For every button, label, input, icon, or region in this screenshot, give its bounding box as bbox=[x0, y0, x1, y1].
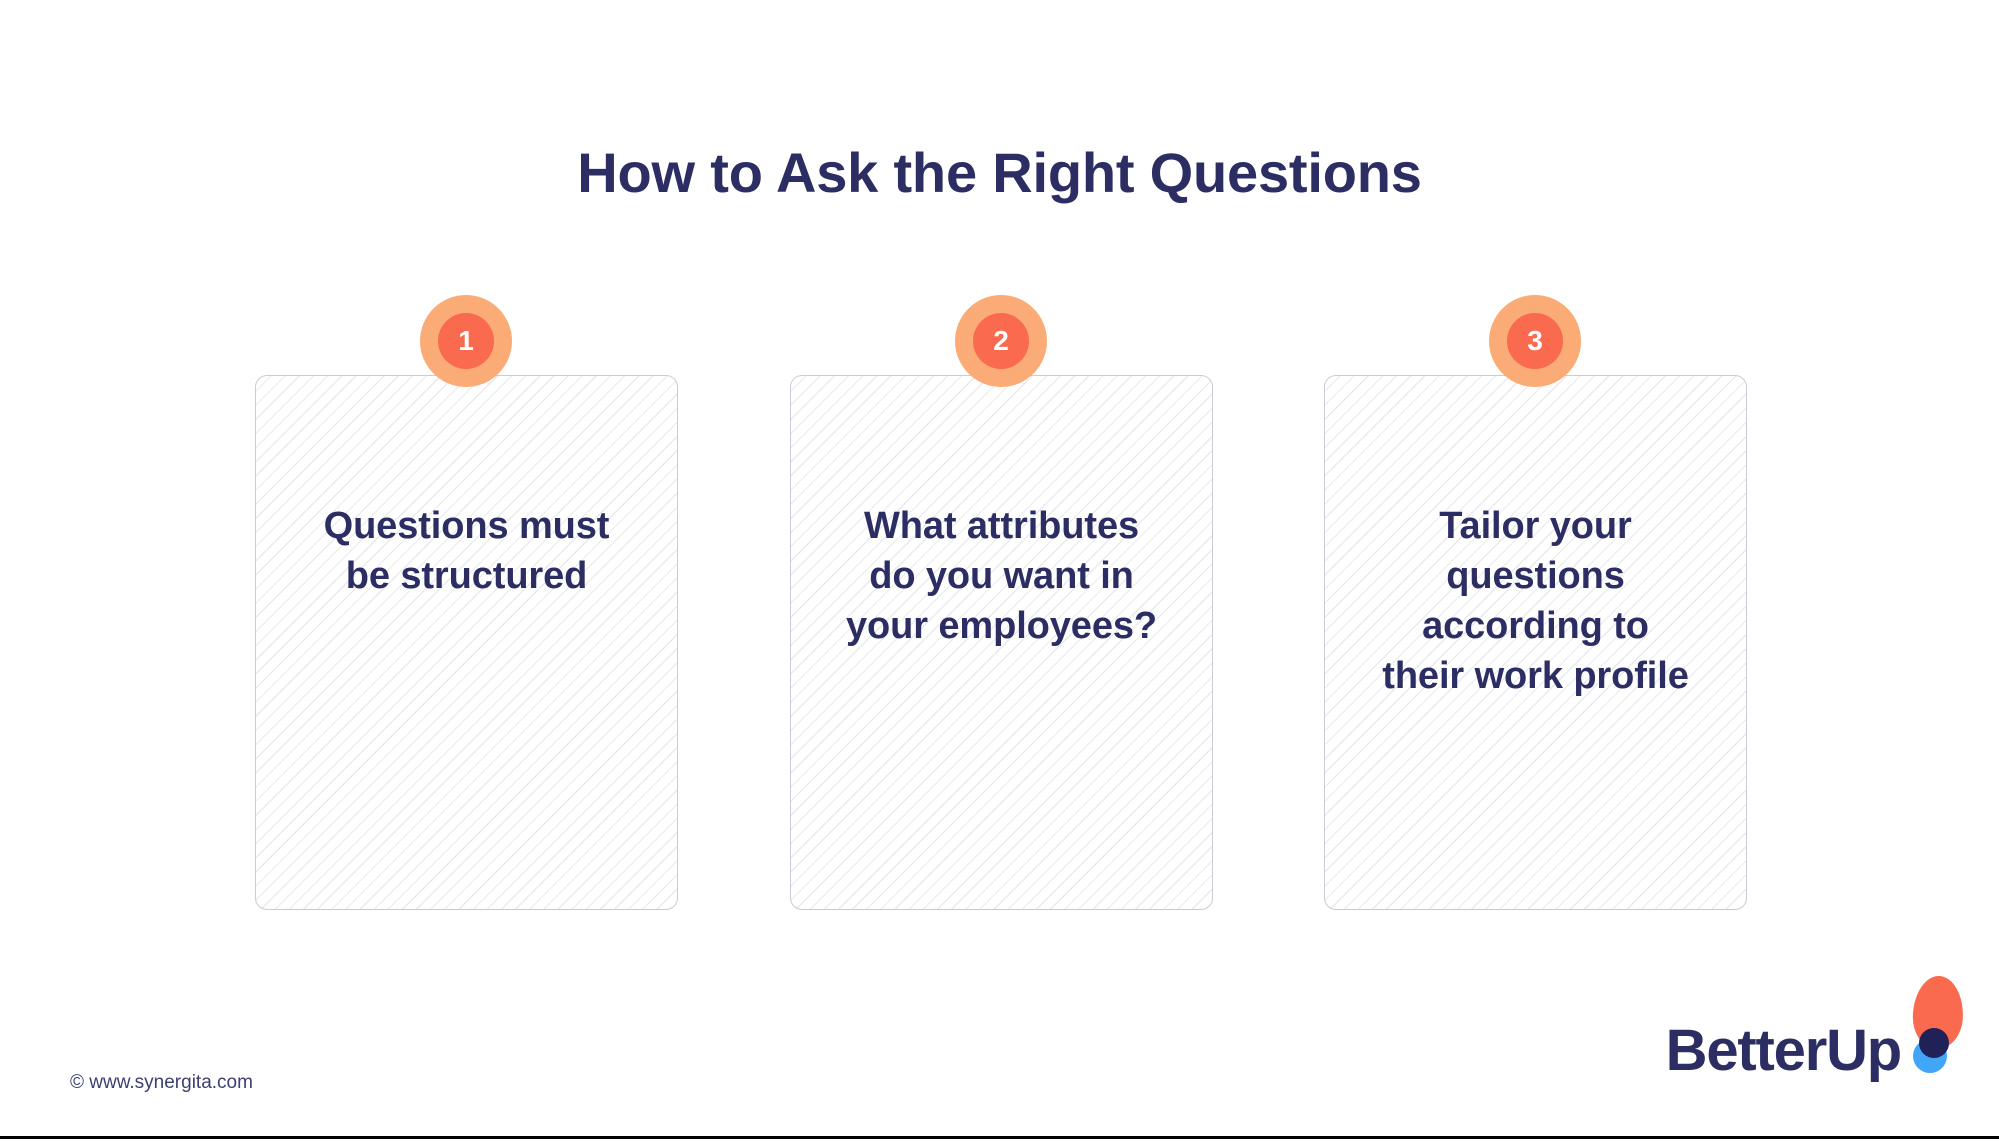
step-number-2: 2 bbox=[973, 313, 1029, 369]
betterup-logo: BetterUp bbox=[1666, 990, 1971, 1080]
card-panel-2: What attributes do you want in your empl… bbox=[790, 375, 1213, 910]
step-badge-3: 3 bbox=[1489, 295, 1581, 387]
card-item-3: Tailor your questions according to their… bbox=[1324, 375, 1747, 910]
card-text-3: Tailor your questions according to their… bbox=[1343, 501, 1728, 702]
copyright-text: © www.synergita.com bbox=[70, 1072, 253, 1094]
step-badge-1: 1 bbox=[420, 295, 512, 387]
betterup-wordmark: BetterUp bbox=[1666, 1022, 1901, 1080]
slide-canvas: How to Ask the Right Questions Questions… bbox=[0, 0, 1999, 1143]
card-item-2: What attributes do you want in your empl… bbox=[790, 375, 1213, 910]
navy-circle-icon bbox=[1919, 1028, 1949, 1058]
step-number-1: 1 bbox=[438, 313, 494, 369]
betterup-mark-icon bbox=[1905, 976, 1971, 1086]
step-number-3: 3 bbox=[1507, 313, 1563, 369]
page-title: How to Ask the Right Questions bbox=[0, 142, 1999, 204]
card-panel-3: Tailor your questions according to their… bbox=[1324, 375, 1747, 910]
card-text-1: Questions must be structured bbox=[274, 501, 659, 601]
card-panel-1: Questions must be structured bbox=[255, 375, 678, 910]
card-item-1: Questions must be structured 1 bbox=[255, 375, 678, 910]
cards-row: Questions must be structured 1 What attr… bbox=[255, 375, 1745, 910]
step-badge-2: 2 bbox=[955, 295, 1047, 387]
card-text-2: What attributes do you want in your empl… bbox=[809, 501, 1194, 651]
bottom-divider bbox=[0, 1136, 1999, 1139]
